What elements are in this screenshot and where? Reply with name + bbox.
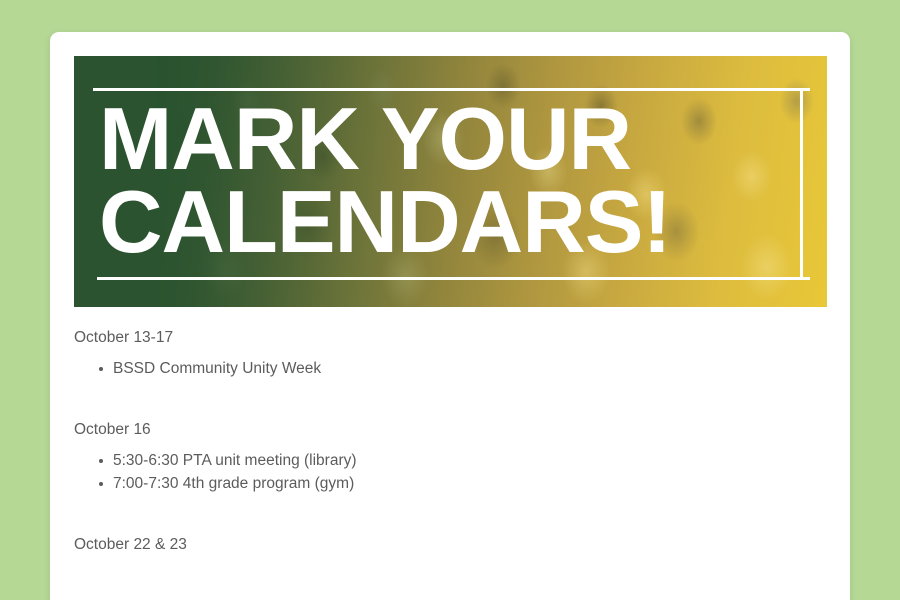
newsletter-card: MARK YOUR CALENDARS! October 13-17 BSSD … [50,32,850,600]
banner-headline: MARK YOUR CALENDARS! [99,98,799,263]
event-list: BSSD Community Unity Week [74,358,814,380]
date-heading: October 22 & 23 [74,534,814,556]
date-heading: October 13-17 [74,327,814,349]
section-spacer [74,381,814,419]
section-spacer [74,495,814,534]
mark-your-calendars-banner: MARK YOUR CALENDARS! [74,56,827,307]
event-list: 5:30-6:30 PTA unit meeting (library) 7:0… [74,450,814,495]
list-item: 7:00-7:30 4th grade program (gym) [74,473,814,495]
list-item: BSSD Community Unity Week [74,358,814,380]
schedule-section: October 13-17 BSSD Community Unity Week … [74,327,814,557]
list-item: 5:30-6:30 PTA unit meeting (library) [74,450,814,472]
banner-frame-bottom-rule [97,277,810,280]
banner-frame-right-rule [800,89,803,279]
date-heading: October 16 [74,419,814,441]
page-root: MARK YOUR CALENDARS! October 13-17 BSSD … [0,0,900,600]
